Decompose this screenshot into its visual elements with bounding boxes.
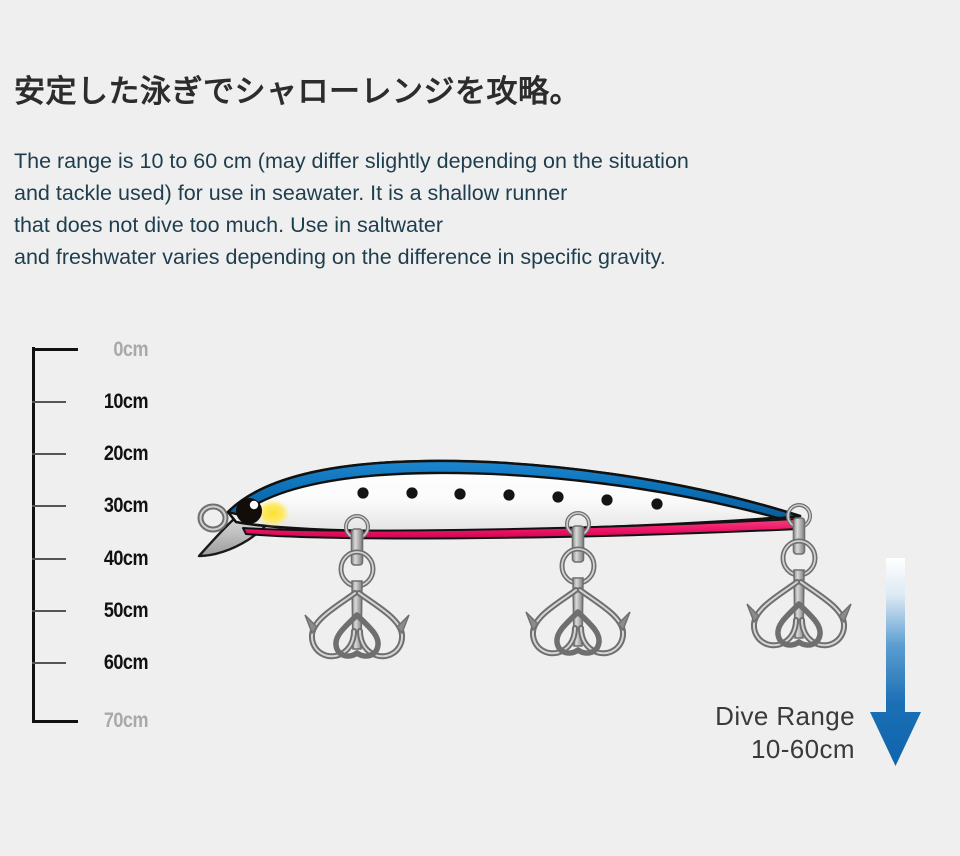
lure-body — [228, 461, 800, 538]
dive-range-value: 10-60cm — [560, 733, 855, 766]
dive-range-title: Dive Range — [560, 700, 855, 733]
line-tie-ring-icon — [201, 507, 226, 530]
dive-range-caption: Dive Range 10-60cm — [560, 700, 855, 766]
infographic-canvas: 安定した泳ぎでシャローレンジを攻略。 The range is 10 to 60… — [0, 0, 960, 856]
dive-direction-arrow-icon — [870, 558, 921, 766]
eye-icon — [236, 498, 262, 524]
